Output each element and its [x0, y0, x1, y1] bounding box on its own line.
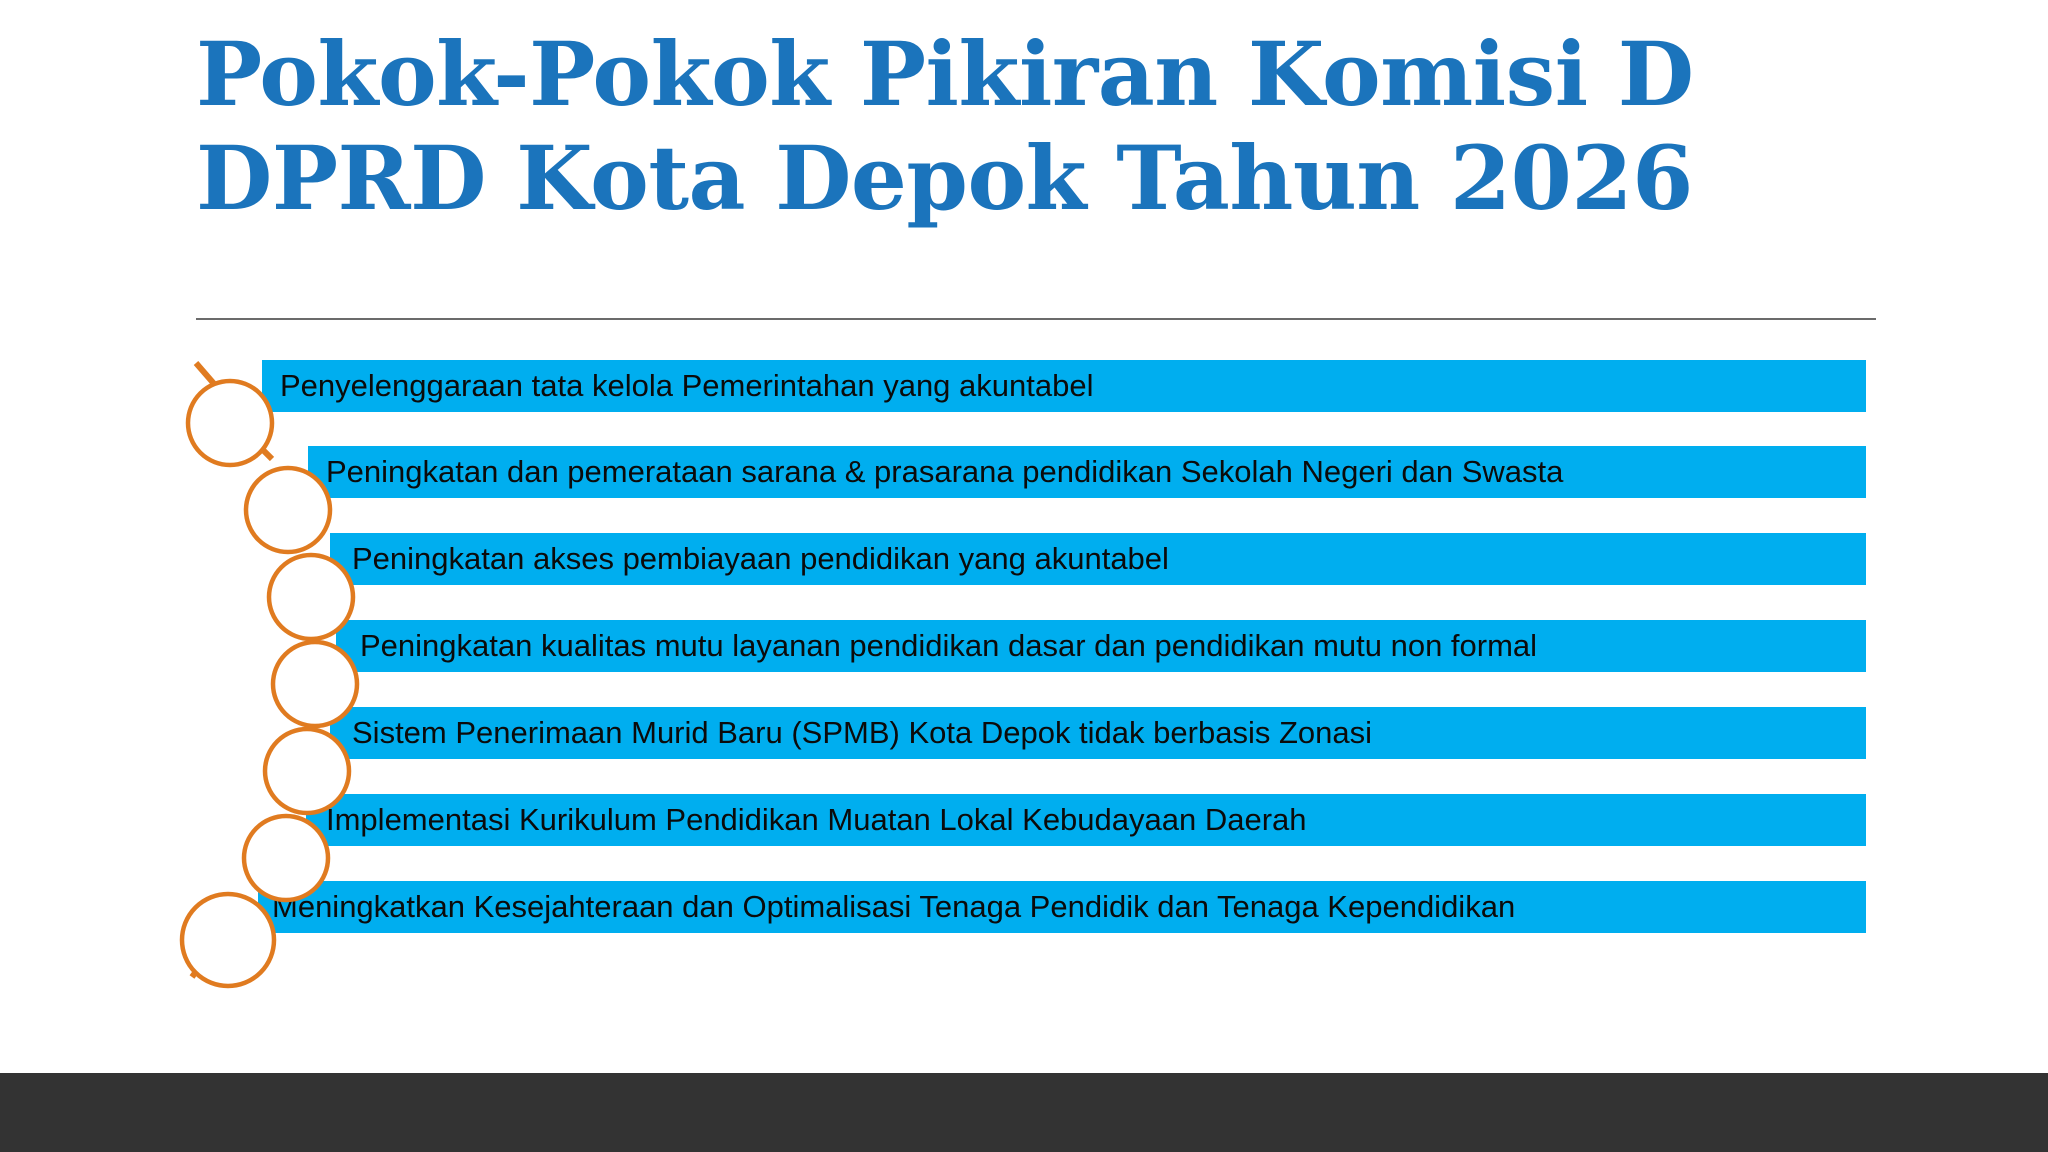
- list-item[interactable]: Peningkatan dan pemerataan sarana & pras…: [0, 446, 2048, 498]
- list-item[interactable]: Implementasi Kurikulum Pendidikan Muatan…: [0, 794, 2048, 846]
- bullet-list: Penyelenggaraan tata kelola Pemerintahan…: [0, 360, 2048, 980]
- title-divider-rule: [196, 318, 1876, 320]
- list-item-label: Meningkatkan Kesejahteraan dan Optimalis…: [272, 881, 1515, 933]
- list-item[interactable]: Penyelenggaraan tata kelola Pemerintahan…: [0, 360, 2048, 412]
- list-item-label: Peningkatan kualitas mutu layanan pendid…: [360, 620, 1537, 672]
- slide-canvas: Pokok-Pokok Pikiran Komisi D DPRD Kota D…: [0, 0, 2048, 1152]
- list-item-label: Penyelenggaraan tata kelola Pemerintahan…: [280, 360, 1093, 412]
- list-item-label: Peningkatan akses pembiayaan pendidikan …: [352, 533, 1169, 585]
- list-item[interactable]: Sistem Penerimaan Murid Baru (SPMB) Kota…: [0, 707, 2048, 759]
- footer-band: [0, 1073, 2048, 1152]
- list-item-label: Sistem Penerimaan Murid Baru (SPMB) Kota…: [352, 707, 1372, 759]
- list-item[interactable]: Peningkatan kualitas mutu layanan pendid…: [0, 620, 2048, 672]
- list-item-label: Implementasi Kurikulum Pendidikan Muatan…: [326, 794, 1307, 846]
- page-title: Pokok-Pokok Pikiran Komisi D DPRD Kota D…: [196, 22, 1816, 230]
- list-item-label: Peningkatan dan pemerataan sarana & pras…: [326, 446, 1563, 498]
- title-block: Pokok-Pokok Pikiran Komisi D DPRD Kota D…: [196, 22, 1816, 230]
- list-item[interactable]: Meningkatkan Kesejahteraan dan Optimalis…: [0, 881, 2048, 933]
- list-item[interactable]: Peningkatan akses pembiayaan pendidikan …: [0, 533, 2048, 585]
